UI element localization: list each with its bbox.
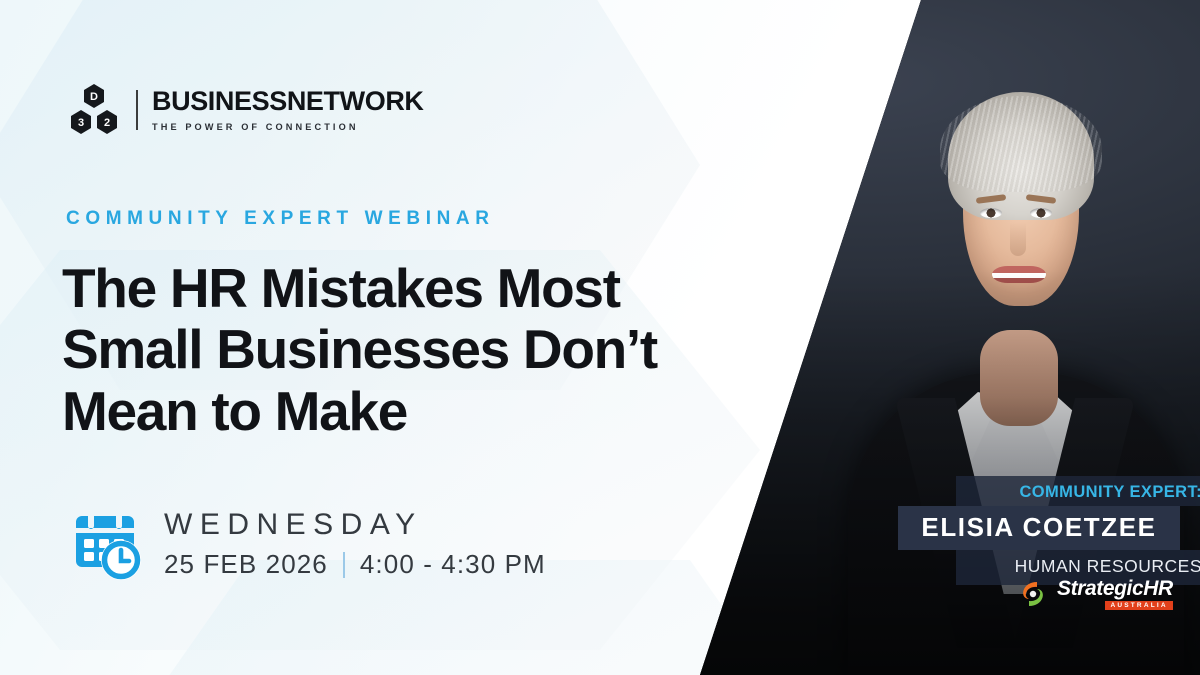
logo-divider (136, 90, 138, 130)
schedule-date-time-row: 25 FEB 2026 4:00 - 4:30 PM (164, 549, 546, 580)
schedule-separator (343, 552, 345, 578)
headline-line-2: Small Businesses Don’t (62, 319, 742, 380)
logo-title: BUSINESSNETWORK (152, 88, 424, 115)
headline-line-3: Mean to Make (62, 381, 742, 442)
svg-text:3: 3 (78, 117, 84, 129)
schedule-text: WEDNESDAY 25 FEB 2026 4:00 - 4:30 PM (164, 508, 546, 581)
schedule-day: WEDNESDAY (164, 508, 546, 543)
strategichr-region: AUSTRALIA (1105, 601, 1172, 610)
calendar-clock-icon (66, 505, 144, 583)
strategichr-swoosh-icon (1018, 579, 1048, 609)
schedule-date: 25 FEB 2026 (164, 549, 328, 580)
speaker-name-badge: COMMUNITY EXPERT: ELISIA COETZEE HUMAN R… (898, 476, 1160, 585)
svg-text:D: D (90, 91, 98, 103)
headline-line-1: The HR Mistakes Most (62, 258, 742, 319)
logo-tagline: THE POWER OF CONNECTION (152, 122, 424, 132)
strategichr-logo[interactable]: StrategicHR AUSTRALIA (1018, 578, 1173, 610)
svg-text:2: 2 (104, 117, 110, 129)
speaker-role-prefix: COMMUNITY EXPERT: (956, 476, 1200, 506)
schedule-block: WEDNESDAY 25 FEB 2026 4:00 - 4:30 PM (66, 505, 546, 583)
page-title: The HR Mistakes Most Small Businesses Do… (62, 258, 742, 442)
speaker-name: ELISIA COETZEE (898, 506, 1180, 550)
schedule-time: 4:00 - 4:30 PM (360, 549, 546, 580)
strategichr-name: StrategicHR (1057, 578, 1173, 599)
eyebrow-label: COMMUNITY EXPERT WEBINAR (66, 208, 495, 230)
logo-wordmark: BUSINESSNETWORK THE POWER OF CONNECTION (152, 88, 424, 132)
strategichr-wordmark: StrategicHR AUSTRALIA (1057, 578, 1173, 610)
d32-hexagon-icon: D 3 2 (66, 82, 122, 138)
webinar-promo-banner: D 3 2 BUSINESSNETWORK THE POWER OF CONNE… (0, 0, 1200, 675)
business-network-logo[interactable]: D 3 2 BUSINESSNETWORK THE POWER OF CONNE… (66, 82, 424, 138)
